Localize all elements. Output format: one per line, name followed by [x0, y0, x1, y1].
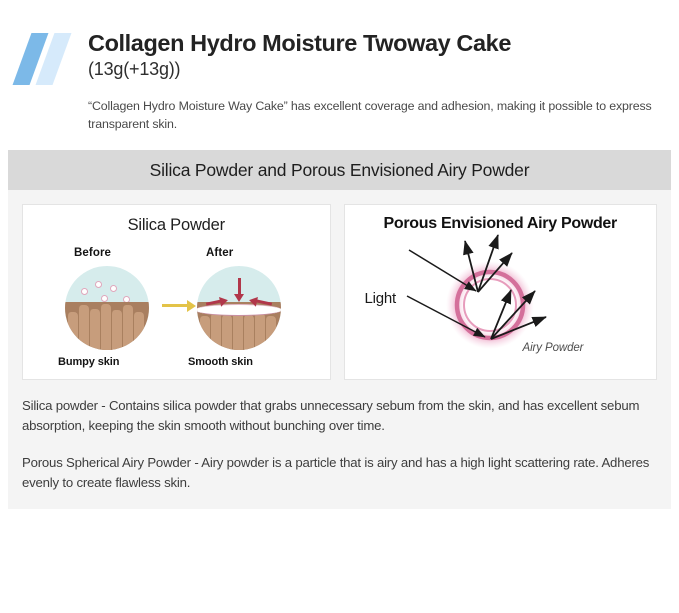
skin-column: [265, 316, 276, 350]
product-intro-text: “Collagen Hydro Moisture Way Cake” has e…: [88, 97, 659, 134]
skin-column: [89, 309, 100, 350]
sebum-dot: [95, 281, 102, 288]
skin-column: [67, 312, 78, 350]
before-skin-illustration: [65, 266, 149, 350]
airy-panel-title: Porous Envisioned Airy Powder: [345, 205, 657, 233]
title-block: Collagen Hydro Moisture Twoway Cake (13g…: [88, 30, 659, 134]
press-arrow-head-icon: [234, 294, 244, 302]
skin-column: [232, 312, 243, 350]
after-label: After: [206, 247, 233, 259]
before-label: Before: [74, 247, 111, 259]
sebum-dot: [101, 295, 108, 302]
skin-column: [199, 316, 210, 350]
sebum-dot: [81, 288, 88, 295]
after-caption: Smooth skin: [188, 356, 253, 368]
skin-column: [133, 312, 144, 350]
section-header-title: Silica Powder and Porous Envisioned Airy…: [150, 160, 530, 181]
smooth-powder-layer: [197, 304, 281, 316]
skin-column: [210, 313, 221, 350]
product-subtitle: (13g(+13g)): [88, 59, 659, 81]
skin-column: [100, 304, 111, 350]
sebum-dot: [110, 285, 117, 292]
silica-powder-panel: Silica Powder Before After: [22, 204, 331, 380]
section-header-band: Silica Powder and Porous Envisioned Airy…: [8, 150, 671, 190]
silica-description-paragraph: Silica powder - Contains silica powder t…: [22, 396, 657, 436]
content-area: Silica Powder Before After: [8, 190, 671, 509]
airy-powder-panel: Porous Envisioned Airy Powder: [344, 204, 658, 380]
product-title: Collagen Hydro Moisture Twoway Cake: [88, 30, 659, 56]
skin-column: [254, 313, 265, 350]
after-skin-illustration: [197, 266, 281, 350]
airy-powder-description-paragraph: Porous Spherical Airy Powder - Airy powd…: [22, 453, 657, 493]
diagram-panels: Silica Powder Before After: [22, 204, 657, 380]
skin-column: [78, 305, 89, 350]
airy-powder-label: Airy Powder: [523, 342, 584, 354]
skin-column: [243, 315, 254, 350]
transition-arrow-shaft: [162, 304, 188, 307]
before-caption: Bumpy skin: [58, 356, 119, 368]
transition-arrow-head-icon: [187, 300, 196, 312]
light-label: Light: [365, 290, 397, 307]
description-text-block: Silica powder - Contains silica powder t…: [22, 396, 657, 493]
skin-column: [221, 315, 232, 350]
silica-before-after-diagram: Before After: [23, 235, 330, 367]
light-scattering-diagram: Light Airy Powder: [345, 233, 657, 371]
skin-column: [122, 305, 133, 350]
skin-column: [111, 310, 122, 350]
product-header: Collagen Hydro Moisture Twoway Cake (13g…: [0, 0, 679, 150]
silica-panel-title: Silica Powder: [23, 205, 330, 235]
press-arrow-shaft: [238, 278, 241, 295]
inward-arrow-left-head-icon: [219, 295, 229, 306]
double-slash-logo-icon: [14, 33, 72, 85]
